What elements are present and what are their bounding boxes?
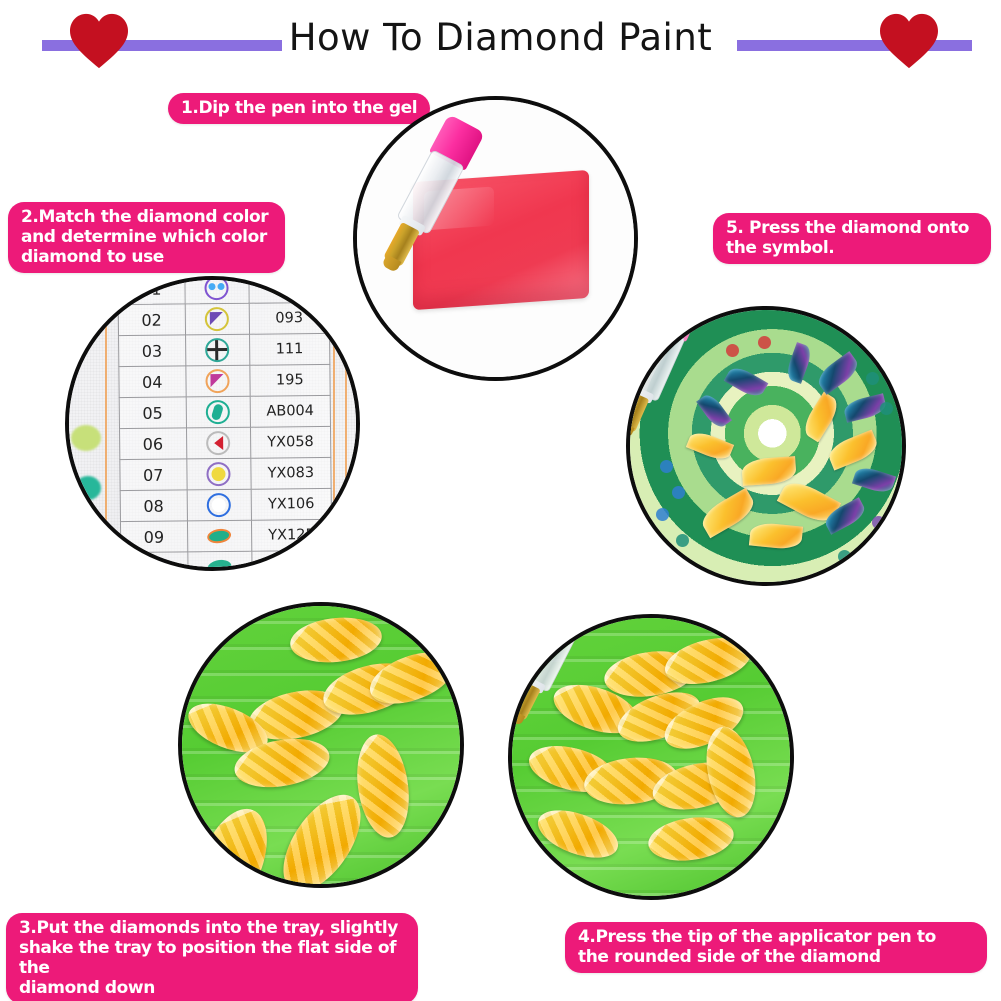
table-row: 09YX125	[120, 519, 331, 552]
legend-symbol	[186, 458, 251, 490]
diamond-gem	[784, 342, 814, 384]
symbol-slash-circle	[206, 400, 230, 424]
legend-number: 05	[119, 397, 186, 429]
canvas-symbol-dot	[880, 402, 893, 415]
legend-code: YX106	[251, 488, 332, 520]
legend-number: 06	[120, 428, 187, 460]
legend-code: 111	[249, 333, 330, 365]
legend-number: 01	[118, 276, 185, 305]
symbol-dot-circle	[206, 462, 230, 486]
diamond-gem	[749, 521, 803, 550]
photo-diamonds-in-tray	[178, 602, 464, 888]
step-4-line-1: 4.Press the tip of the applicator pen to	[578, 927, 974, 947]
canvas-symbol-dot	[726, 344, 739, 357]
symbol-leaf-oval	[207, 524, 231, 548]
canvas-symbol-dot	[672, 486, 685, 499]
legend-symbol	[184, 276, 249, 304]
legend-number: 08	[120, 490, 187, 522]
canvas-symbol-dot	[866, 372, 879, 385]
legend-code: YX058	[250, 426, 331, 458]
color-legend-body: 0102802093031110419505AB00406YX05807YX08…	[118, 276, 332, 571]
diamond-gem	[686, 428, 734, 463]
symbol-double-dot-circle	[205, 276, 229, 300]
legend-number: 10	[121, 552, 188, 571]
canvas-symbol-dot	[758, 336, 771, 349]
table-row: 02093	[118, 302, 329, 335]
canvas-guide-line	[105, 280, 107, 567]
diamond-gem	[741, 456, 797, 486]
table-row: 03111	[119, 333, 330, 366]
legend-code: 195	[250, 364, 331, 396]
legend-symbol	[187, 489, 252, 521]
step-2-line-1: 2.Match the diamond color	[21, 207, 272, 227]
step-5-label: 5. Press the diamond onto the symbol.	[713, 213, 991, 264]
step-2-line-3: diamond to use	[21, 247, 272, 267]
legend-number: 03	[119, 335, 186, 367]
table-row: 01028	[118, 276, 329, 305]
symbol-leaf-oval	[207, 555, 231, 571]
legend-symbol	[185, 303, 250, 335]
table-row: 10	[121, 550, 332, 571]
step-3-line-3: diamond down	[19, 978, 405, 998]
symbol-triangle-circle	[205, 307, 229, 331]
diamond-gem	[696, 391, 732, 431]
diamond-gem	[852, 464, 896, 495]
step-5-line-1: 5. Press the diamond onto	[726, 218, 978, 238]
legend-symbol	[187, 551, 252, 571]
step-2-label: 2.Match the diamond color and determine …	[8, 202, 285, 273]
canvas-symbol-dot	[676, 534, 689, 547]
legend-symbol	[187, 520, 252, 552]
legend-number: 02	[118, 304, 185, 336]
step-3-line-1: 3.Put the diamonds into the tray, slight…	[19, 918, 405, 938]
color-legend-table: 0102802093031110419505AB00406YX05807YX08…	[117, 276, 332, 571]
canvas-symbol-dot	[656, 508, 669, 521]
symbol-ring-circle	[207, 493, 231, 517]
step-3-line-2: shake the tray to position the flat side…	[19, 938, 405, 978]
legend-code: YX083	[251, 457, 332, 489]
step-5-line-2: the symbol.	[726, 238, 978, 258]
legend-number: 09	[120, 521, 187, 553]
legend-code: YX125	[251, 519, 332, 551]
photo-color-chart: 0102802093031110419505AB00406YX05807YX08…	[65, 276, 360, 571]
table-row: 07YX083	[120, 457, 331, 490]
infographic-page: How To Diamond Paint 1.Dip the pen into …	[0, 0, 1001, 1001]
table-row: 08YX106	[120, 488, 331, 521]
legend-symbol	[186, 396, 251, 428]
canvas-symbol-dot	[660, 460, 673, 473]
table-row: 04195	[119, 364, 330, 397]
symbol-triangle-circle	[205, 369, 229, 393]
table-row: 06YX058	[120, 426, 331, 459]
step-2-line-2: and determine which color	[21, 227, 272, 247]
table-row: 05AB004	[119, 395, 330, 428]
symbol-plus-circle	[205, 338, 229, 362]
canvas-guide-line	[333, 280, 335, 567]
symbol-chevron-circle	[206, 431, 230, 455]
photo-pen-pressing-diamond	[508, 614, 794, 900]
diamond-gem	[697, 488, 758, 539]
legend-symbol	[185, 365, 250, 397]
step-4-label: 4.Press the tip of the applicator pen to…	[565, 922, 987, 973]
legend-symbol	[185, 334, 250, 366]
legend-number: 04	[119, 366, 186, 398]
legend-symbol	[186, 427, 251, 459]
photo-pen-dipping-gel	[353, 96, 638, 381]
canvas-symbol-dot	[838, 550, 851, 563]
diamond-gem	[724, 363, 769, 400]
diamond-gem	[814, 351, 863, 395]
page-title: How To Diamond Paint	[0, 16, 1001, 59]
legend-code: 028	[249, 276, 330, 303]
step-4-line-2: the rounded side of the diamond	[578, 947, 974, 967]
legend-code: AB004	[250, 395, 331, 427]
canvas-guide-line	[345, 280, 347, 567]
step-3-label: 3.Put the diamonds into the tray, slight…	[6, 913, 418, 1001]
legend-number: 07	[120, 459, 187, 491]
diamond-gem	[799, 392, 842, 443]
photo-diamond-onto-symbol	[626, 306, 906, 586]
legend-code: 093	[249, 302, 330, 334]
legend-code	[252, 550, 333, 571]
canvas-symbol-dot	[872, 516, 885, 529]
diamond-gem	[825, 430, 880, 471]
